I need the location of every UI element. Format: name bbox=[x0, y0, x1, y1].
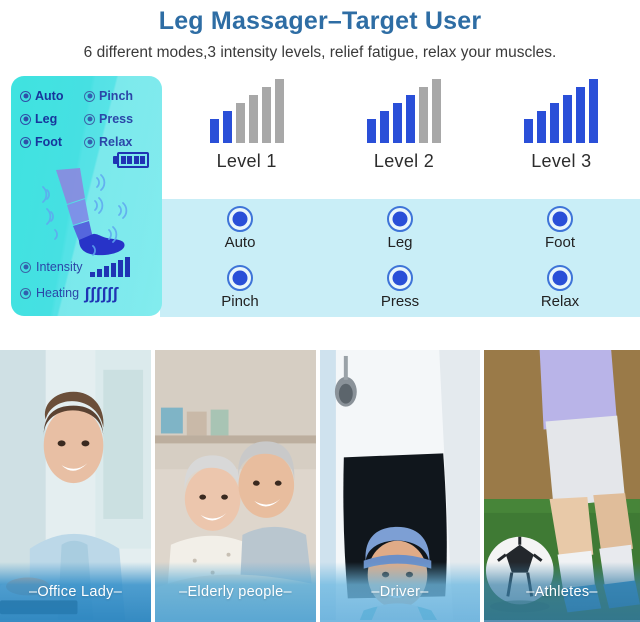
leg-massager-illustration bbox=[23, 168, 151, 256]
photo-driver: –Driver– bbox=[320, 350, 480, 622]
level-label: Level 3 bbox=[531, 151, 591, 172]
panel-mode-leg[interactable]: Leg bbox=[20, 112, 84, 126]
photo-caption-bar: –Athletes– bbox=[484, 562, 640, 622]
photo-caption: –Office Lady– bbox=[29, 584, 122, 600]
heating-row[interactable]: Heating ʃʃʃʃʃʃ bbox=[20, 280, 156, 306]
page-header: Leg Massager–Target User 6 different mod… bbox=[0, 0, 640, 66]
panel-mode-list: Auto Pinch Leg Press Foot Relax bbox=[20, 89, 154, 149]
panel-mode-relax[interactable]: Relax bbox=[84, 135, 154, 149]
intensity-row[interactable]: Intensity bbox=[20, 254, 156, 280]
level-bars-icon bbox=[367, 73, 441, 143]
radio-icon bbox=[20, 262, 31, 273]
mode-button-pinch[interactable]: Pinch bbox=[160, 258, 320, 317]
photo-caption: –Athletes– bbox=[526, 584, 598, 600]
level-indicators: Level 1 Level 2 Level 3 bbox=[168, 73, 640, 193]
battery-icon bbox=[113, 152, 149, 168]
mode-button-label: Pinch bbox=[221, 293, 259, 310]
mode-button-relax[interactable]: Relax bbox=[480, 258, 640, 317]
panel-mode-auto[interactable]: Auto bbox=[20, 89, 84, 103]
photo-office-lady: –Office Lady– bbox=[0, 350, 151, 622]
radio-icon bbox=[547, 206, 573, 232]
radio-icon bbox=[227, 206, 253, 232]
mode-button-leg[interactable]: Leg bbox=[320, 199, 480, 258]
control-panel: Auto Pinch Leg Press Foot Relax bbox=[11, 76, 162, 316]
panel-mode-label: Relax bbox=[99, 135, 132, 149]
level-3: Level 3 bbox=[483, 73, 640, 193]
heating-label: Heating bbox=[36, 286, 79, 300]
photo-strip: –Office Lady– bbox=[0, 350, 640, 622]
photo-caption: –Driver– bbox=[371, 584, 428, 600]
radio-icon bbox=[84, 91, 95, 102]
radio-icon bbox=[20, 288, 31, 299]
radio-icon bbox=[227, 265, 253, 291]
level-bars-icon bbox=[210, 73, 284, 143]
radio-icon bbox=[84, 114, 95, 125]
mode-button-label: Relax bbox=[541, 293, 579, 310]
radio-icon bbox=[20, 114, 31, 125]
panel-bottom-controls: Intensity Heating ʃʃʃʃʃʃ bbox=[20, 254, 156, 306]
panel-mode-label: Leg bbox=[35, 112, 57, 126]
photo-elderly-people: –Elderly people– bbox=[155, 350, 316, 622]
mode-button-label: Press bbox=[381, 293, 419, 310]
mode-button-press[interactable]: Press bbox=[320, 258, 480, 317]
panel-mode-pinch[interactable]: Pinch bbox=[84, 89, 154, 103]
photo-athletes: –Athletes– bbox=[484, 350, 640, 622]
page-title: Leg Massager–Target User bbox=[0, 4, 640, 38]
level-label: Level 2 bbox=[374, 151, 434, 172]
mode-button-grid: Auto Leg Foot Pinch Press Relax bbox=[160, 199, 640, 317]
panel-mode-label: Foot bbox=[35, 135, 62, 149]
radio-icon bbox=[387, 206, 413, 232]
mode-button-foot[interactable]: Foot bbox=[480, 199, 640, 258]
heat-wave-icon: ʃʃʃʃʃʃ bbox=[84, 285, 118, 302]
radio-icon bbox=[547, 265, 573, 291]
mode-button-label: Foot bbox=[545, 234, 575, 251]
radio-icon bbox=[20, 137, 31, 148]
level-bars-icon bbox=[524, 73, 598, 143]
panel-mode-foot[interactable]: Foot bbox=[20, 135, 84, 149]
intensity-bars-icon bbox=[90, 258, 130, 277]
level-2: Level 2 bbox=[325, 73, 482, 193]
level-1: Level 1 bbox=[168, 73, 325, 193]
level-label: Level 1 bbox=[217, 151, 277, 172]
photo-caption: –Elderly people– bbox=[179, 584, 292, 600]
photo-caption-bar: –Driver– bbox=[320, 562, 480, 622]
intensity-label: Intensity bbox=[36, 260, 83, 274]
photo-caption-bar: –Elderly people– bbox=[155, 562, 316, 622]
panel-mode-press[interactable]: Press bbox=[84, 112, 154, 126]
radio-icon bbox=[20, 91, 31, 102]
feature-section: Auto Pinch Leg Press Foot Relax bbox=[0, 73, 640, 335]
mode-button-label: Leg bbox=[387, 234, 412, 251]
photo-caption-bar: –Office Lady– bbox=[0, 562, 151, 622]
radio-icon bbox=[84, 137, 95, 148]
panel-mode-label: Press bbox=[99, 112, 133, 126]
radio-icon bbox=[387, 265, 413, 291]
panel-mode-label: Pinch bbox=[99, 89, 133, 103]
page-subtitle: 6 different modes,3 intensity levels, re… bbox=[0, 40, 640, 66]
mode-button-label: Auto bbox=[225, 234, 256, 251]
battery-body bbox=[117, 152, 149, 168]
panel-mode-label: Auto bbox=[35, 89, 63, 103]
mode-button-auto[interactable]: Auto bbox=[160, 199, 320, 258]
